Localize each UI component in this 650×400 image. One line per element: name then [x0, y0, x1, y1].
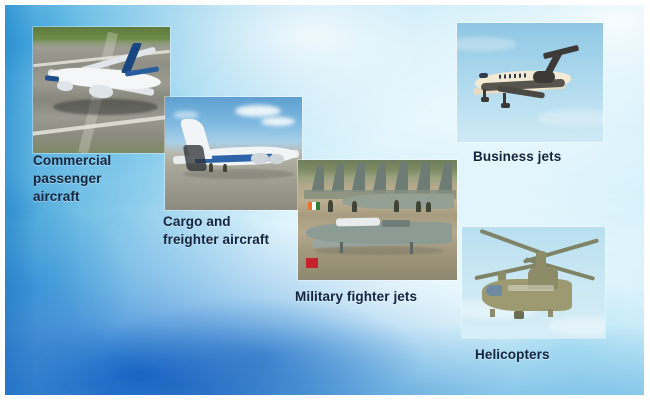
apron-scene	[165, 97, 302, 210]
commercial-passenger-aircraft-photo[interactable]	[33, 27, 170, 153]
label-cargo-freighter-aircraft: Cargo and freighter aircraft	[163, 213, 313, 249]
cargo-freighter-aircraft-photo[interactable]	[165, 97, 302, 210]
label-military-fighter-jets: Military fighter jets	[295, 288, 475, 306]
helicopter-photo[interactable]	[462, 227, 605, 338]
slide-frame: Commercial passenger aircraft Cargo and …	[0, 0, 650, 400]
runway-scene	[33, 27, 170, 153]
label-commercial-passenger-aircraft: Commercial passenger aircraft	[33, 152, 153, 206]
helicopter-sky-scene	[462, 227, 605, 338]
airbase-scene	[298, 160, 457, 280]
label-helicopters: Helicopters	[475, 346, 615, 364]
sky-scene	[457, 23, 603, 142]
slide-canvas: Commercial passenger aircraft Cargo and …	[5, 5, 644, 395]
business-jet-photo[interactable]	[457, 23, 603, 142]
military-fighter-jets-photo[interactable]	[298, 160, 457, 280]
label-business-jets: Business jets	[473, 148, 613, 166]
